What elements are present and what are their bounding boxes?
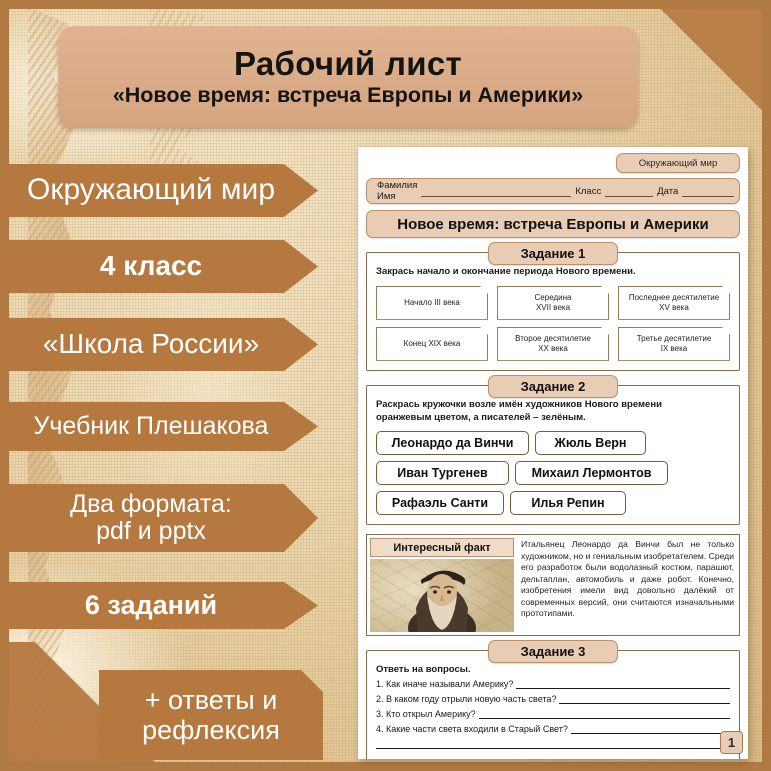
sidebar-item-label: Учебник Плешакова xyxy=(0,413,318,440)
student-info-row[interactable]: Фамилия Имя Класс Дата xyxy=(366,178,740,204)
plaque-label: + ответы ирефлексия xyxy=(142,685,280,745)
question-text: 2. В каком году отрыли новую часть света… xyxy=(376,694,556,704)
task-2-name-chip[interactable]: Рафаэль Санти xyxy=(376,491,504,515)
sidebar-item-textbook[interactable]: Учебник Плешакова xyxy=(0,402,318,451)
task-2-name-chip[interactable]: Жюль Верн xyxy=(535,431,646,455)
screenshot-root: Рабочий лист «Новое время: встреча Европ… xyxy=(0,0,771,771)
leonardo-portrait-image xyxy=(370,559,514,632)
task-2-instruction: Раскрась кружочки возле имён художников … xyxy=(376,399,730,425)
task-3-question: 2. В каком году отрыли новую часть света… xyxy=(376,694,730,704)
question-text: 1. Как иначе называли Америку? xyxy=(376,679,513,689)
task-1: Задание 1 Закрась начало и окончание пер… xyxy=(366,252,740,371)
sidebar-item-subject[interactable]: Окружающий мир xyxy=(0,164,318,217)
answer-line[interactable] xyxy=(571,725,730,734)
question-text: 4. Какие части света входили в Старый Св… xyxy=(376,724,568,734)
answers-reflection-plaque[interactable]: + ответы ирефлексия xyxy=(99,670,323,760)
sidebar-item-program[interactable]: «Школа России» xyxy=(0,318,318,371)
answer-line[interactable] xyxy=(559,695,730,704)
task-2: Задание 2 Раскрась кружочки возле имён х… xyxy=(366,385,740,526)
task-1-option[interactable]: Второе десятилетиеXX века xyxy=(497,327,609,361)
task-3-head: Ответь на вопросы. xyxy=(376,664,730,675)
task-2-name-chip[interactable]: Михаил Лермонтов xyxy=(515,461,668,485)
answer-line[interactable] xyxy=(376,739,730,749)
date-input-line[interactable] xyxy=(682,186,734,197)
answer-line[interactable] xyxy=(479,710,730,719)
task-2-name-chip[interactable]: Иван Тургенев xyxy=(376,461,509,485)
sidebar-item-tasks-count[interactable]: 6 заданий xyxy=(0,582,318,629)
task-2-name-chip[interactable]: Илья Репин xyxy=(510,491,626,515)
task-1-option[interactable]: Начало III века xyxy=(376,286,488,320)
task-1-option[interactable]: Последнее десятилетиеXV века xyxy=(618,286,730,320)
task-2-names: Леонардо да Винчи Жюль Верн Иван Тургене… xyxy=(376,431,730,515)
interesting-fact-block: Интересный факт xyxy=(366,534,740,636)
page-title: Рабочий лист xyxy=(234,47,462,82)
sidebar-item-formats[interactable]: Два формата:pdf и pptx xyxy=(0,484,318,552)
worksheet-page: Окружающий мир Фамилия Имя Класс Дата Но… xyxy=(358,147,748,759)
interesting-fact-title: Интересный факт xyxy=(370,538,514,557)
task-2-tab: Задание 2 xyxy=(488,375,618,398)
worksheet-topic: Новое время: встреча Европы и Америки xyxy=(366,210,740,238)
interesting-fact-text: Итальянец Леонардо да Винчи был не тольк… xyxy=(519,538,736,632)
header-banner: Рабочий лист «Новое время: встреча Европ… xyxy=(58,26,638,128)
sidebar-item-grade[interactable]: 4 класс xyxy=(0,240,318,293)
sidebar-item-label: Два формата:pdf и pptx xyxy=(0,491,318,545)
task-1-option[interactable]: СерединаXVII века xyxy=(497,286,609,320)
page-number-badge: 1 xyxy=(720,731,743,754)
task-1-option[interactable]: Третье десятилетиеIX века xyxy=(618,327,730,361)
name-label: Фамилия Имя xyxy=(377,180,417,202)
task-1-instruction: Закрась начало и окончание периода Новог… xyxy=(376,266,730,279)
date-label: Дата xyxy=(657,186,678,197)
name-input-line[interactable] xyxy=(421,186,571,197)
answer-line[interactable] xyxy=(516,680,730,689)
task-1-option[interactable]: Конец XIX века xyxy=(376,327,488,361)
task-1-options: Начало III века СерединаXVII века Послед… xyxy=(376,286,730,361)
task-3-tab: Задание 3 xyxy=(488,640,618,663)
sidebar-item-label: Окружающий мир xyxy=(0,174,318,206)
class-label: Класс xyxy=(575,186,601,197)
task-3-question: 4. Какие части света входили в Старый Св… xyxy=(376,724,730,734)
page-subtitle: «Новое время: встреча Европы и Америки» xyxy=(113,84,583,108)
sidebar-item-label: 4 класс xyxy=(0,251,318,281)
subject-tag: Окружающий мир xyxy=(616,153,740,173)
sidebar-item-label: 6 заданий xyxy=(0,591,318,620)
class-input-line[interactable] xyxy=(605,186,653,197)
sidebar-item-label: «Школа России» xyxy=(0,329,318,359)
leonardo-figure xyxy=(400,559,484,632)
task-3: Задание 3 Ответь на вопросы. 1. Как инач… xyxy=(366,650,740,759)
task-3-question: 3. Кто открыл Америку? xyxy=(376,709,730,719)
task-2-name-chip[interactable]: Леонардо да Винчи xyxy=(376,431,529,455)
question-text: 3. Кто открыл Америку? xyxy=(376,709,476,719)
task-1-tab: Задание 1 xyxy=(488,242,618,265)
task-3-question: 1. Как иначе называли Америку? xyxy=(376,679,730,689)
top-right-fold xyxy=(642,9,762,129)
